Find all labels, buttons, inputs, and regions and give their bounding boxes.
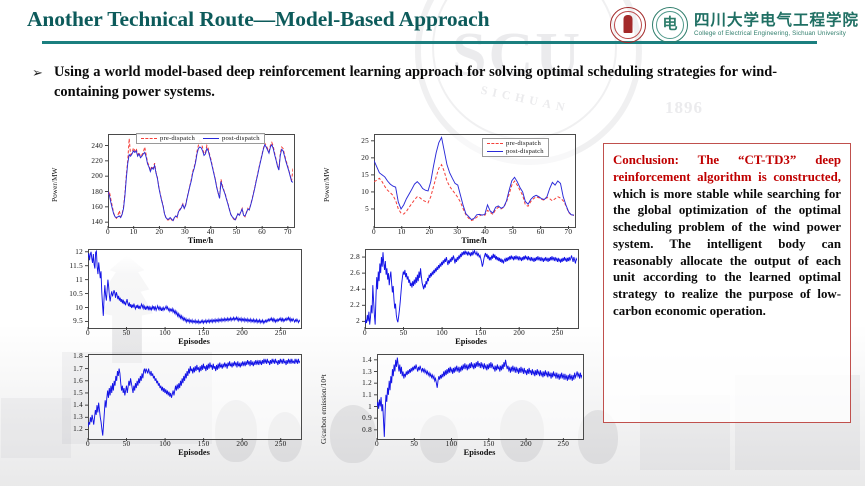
y-tick-label: 10: [361, 188, 369, 196]
logo-english-name: College of Electrical Engineering, Sichu…: [694, 30, 859, 37]
chart-carbon: 0501001502002500.80.911.11.21.31.4Episod…: [315, 352, 590, 462]
y-tick-label: 1.3: [362, 368, 372, 376]
y-tick-label: 1.4: [362, 356, 372, 364]
x-tick-label: 100: [446, 440, 458, 448]
y-tick-label: 1.7: [73, 365, 83, 373]
y-tick-label: 12: [75, 248, 83, 256]
x-tick-label: 100: [159, 329, 171, 337]
x-tick-label: 20: [426, 228, 434, 236]
chart-loss: 0501001502002509.51010.51111.512Episodes: [40, 247, 308, 350]
y-tick-label: 20: [361, 154, 369, 162]
x-tick-label: 30: [181, 228, 189, 236]
legend-swatch-post-dispatch: [203, 138, 219, 139]
chart-reward: 05010015020025022.22.42.62.8Episodes: [323, 247, 585, 350]
y-tick-label: 0.9: [362, 414, 372, 422]
conclusion-text: Conclusion: The “CT-TD3” deep reinforcem…: [613, 152, 841, 320]
legend-item: pre-dispatch: [141, 135, 195, 142]
y-tick-label: 220: [91, 157, 103, 165]
y-tick-label: 240: [91, 142, 103, 150]
y-tick-label: 10.5: [69, 290, 83, 298]
x-tick-label: 250: [275, 329, 287, 337]
x-tick-label: 50: [123, 329, 131, 337]
x-tick-label: 0: [86, 440, 90, 448]
x-tick-label: 0: [372, 228, 376, 236]
y-tick-label: 11.5: [69, 262, 83, 270]
x-axis-title: Episodes: [455, 337, 487, 346]
conclusion-rest: which is more stable while searching for…: [613, 187, 841, 318]
x-axis-title: Time/h: [461, 236, 486, 245]
conclusion-box: Conclusion: The “CT-TD3” deep reinforcem…: [603, 143, 851, 423]
y-tick-label: 25: [361, 137, 369, 145]
x-tick-label: 70: [565, 228, 573, 236]
seal-green-glyph: 电: [662, 18, 677, 33]
legend-item: post-dispatch: [487, 148, 544, 155]
x-tick-label: 50: [400, 329, 408, 337]
seal-red-tower-mark: [623, 15, 632, 33]
legend-label: post-dispatch: [222, 135, 260, 142]
x-tick-label: 40: [481, 228, 489, 236]
y-tick-label: 140: [91, 218, 103, 226]
chart-economy: 0501001502002501.21.31.41.51.61.71.8Epis…: [40, 352, 308, 462]
sichuan-university-seal-icon: [610, 7, 646, 43]
y-tick-label: 2: [356, 317, 360, 325]
x-tick-label: 10: [130, 228, 138, 236]
y-tick-label: 1.8: [73, 352, 83, 360]
slide-header: Another Technical Route—Model-Based Appr…: [0, 0, 865, 48]
chart-thermal-power: 010203040506070140160180200220240Time/hP…: [46, 128, 298, 246]
chart-legend: pre-dispatchpost-dispatch: [136, 133, 265, 144]
x-tick-label: 250: [558, 440, 570, 448]
x-tick-label: 50: [410, 440, 418, 448]
y-tick-label: 1.2: [73, 425, 83, 433]
y-tick-label: 1.1: [362, 391, 372, 399]
y-axis-title: G/carbon emission/10⁴t: [319, 374, 328, 444]
chart-wind-power: 010203040506070510152025Time/hPower/MWpr…: [318, 128, 580, 246]
x-tick-label: 100: [159, 440, 171, 448]
x-tick-label: 40: [207, 228, 215, 236]
y-tick-label: 1.5: [73, 389, 83, 397]
series-line-training-curve: [88, 359, 300, 436]
y-tick-label: 2.2: [350, 301, 360, 309]
legend-label: post-dispatch: [506, 148, 544, 155]
logo-chinese-name: 四川大学电气工程学院: [694, 13, 859, 29]
series-line-training-curve: [88, 251, 300, 323]
series-line-training-curve: [377, 358, 582, 437]
x-tick-label: 150: [198, 329, 210, 337]
x-axis-title: Time/h: [188, 236, 213, 245]
y-tick-label: 1: [368, 403, 372, 411]
y-tick-label: 160: [91, 203, 103, 211]
x-tick-label: 200: [520, 440, 532, 448]
x-tick-label: 250: [552, 329, 564, 337]
legend-label: pre-dispatch: [506, 140, 541, 147]
college-seal-icon: 电: [652, 7, 688, 43]
y-tick-label: 180: [91, 188, 103, 196]
series-line-training-curve: [365, 251, 577, 325]
x-tick-label: 200: [236, 440, 248, 448]
x-tick-label: 20: [155, 228, 163, 236]
y-tick-label: 0.8: [362, 426, 372, 434]
y-tick-label: 5: [365, 205, 369, 213]
legend-label: pre-dispatch: [160, 135, 195, 142]
legend-item: pre-dispatch: [487, 140, 541, 147]
bullet-block: ➢ Using a world model-based deep reinfor…: [32, 62, 777, 103]
x-tick-label: 30: [453, 228, 461, 236]
y-tick-label: 1.2: [362, 379, 372, 387]
x-tick-label: 0: [363, 329, 367, 337]
institution-logo-group: 电 四川大学电气工程学院 College of Electrical Engin…: [610, 6, 859, 44]
x-tick-label: 0: [106, 228, 110, 236]
y-axis-title: Power/MW: [50, 168, 59, 203]
page-title: Another Technical Route—Model-Based Appr…: [27, 7, 489, 32]
x-tick-label: 200: [513, 329, 525, 337]
y-tick-label: 11: [75, 276, 83, 284]
x-tick-label: 50: [233, 228, 241, 236]
x-tick-label: 50: [509, 228, 517, 236]
y-tick-label: 2.4: [350, 285, 360, 293]
x-tick-label: 60: [537, 228, 545, 236]
x-tick-label: 50: [123, 440, 131, 448]
x-tick-label: 0: [375, 440, 379, 448]
y-tick-label: 1.3: [73, 413, 83, 421]
y-tick-label: 2.6: [350, 269, 360, 277]
legend-item: post-dispatch: [203, 135, 260, 142]
legend-swatch-post-dispatch: [487, 151, 503, 152]
x-tick-label: 60: [258, 228, 266, 236]
x-tick-label: 0: [86, 329, 90, 337]
x-tick-label: 70: [284, 228, 292, 236]
x-tick-label: 100: [436, 329, 448, 337]
y-axis-title: Power/MW: [322, 168, 331, 203]
bullet-arrow-icon: ➢: [32, 65, 43, 81]
y-tick-label: 9.5: [73, 317, 83, 325]
x-axis-title: Episodes: [464, 448, 496, 457]
x-tick-label: 150: [483, 440, 495, 448]
x-tick-label: 200: [236, 329, 248, 337]
x-axis-title: Episodes: [178, 337, 210, 346]
conclusion-highlight: Conclusion: The “CT-TD3” deep reinforcem…: [613, 153, 841, 184]
y-tick-label: 1.6: [73, 377, 83, 385]
y-tick-label: 2.8: [350, 253, 360, 261]
x-tick-label: 150: [198, 440, 210, 448]
x-tick-label: 250: [275, 440, 287, 448]
chart-legend: pre-dispatchpost-dispatch: [482, 138, 549, 157]
series-line-pre-dispatch: [374, 165, 574, 221]
legend-swatch-pre-dispatch: [487, 143, 503, 144]
legend-swatch-pre-dispatch: [141, 138, 157, 139]
y-tick-label: 10: [75, 304, 83, 312]
x-tick-label: 150: [475, 329, 487, 337]
y-tick-label: 15: [361, 171, 369, 179]
x-tick-label: 10: [398, 228, 406, 236]
y-tick-label: 200: [91, 172, 103, 180]
y-tick-label: 1.4: [73, 401, 83, 409]
x-axis-title: Episodes: [178, 448, 210, 457]
series-line-post-dispatch: [108, 145, 293, 221]
bullet-text: Using a world model-based deep reinforce…: [54, 62, 777, 103]
